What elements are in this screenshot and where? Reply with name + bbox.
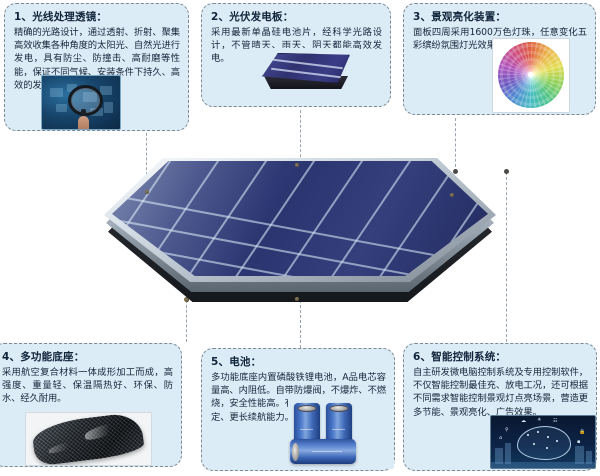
monocrystalline-solar-wafer-image	[249, 48, 359, 104]
frame-screw	[145, 190, 149, 194]
info-panel-5[interactable]: 5、电池： 多功能底座内置磷酸铁锂电池，A品电芯容量高、内阻低。自带防爆阀，不爆…	[201, 348, 395, 471]
frame-screw	[295, 163, 299, 167]
lock-icon: 🔒	[579, 430, 585, 435]
chart-icon: ▪	[577, 440, 580, 445]
frame-screw	[450, 193, 454, 197]
solar-panel-assembly	[90, 150, 510, 310]
lithium-battery-cells-image	[288, 395, 394, 469]
panel-6-body: 自主研发微电脑控制系统及专用控制软件，不仅智能控制最佳充、放电工况，还可根据不同…	[413, 366, 588, 419]
infographic-canvas: 1、光线处理透镜： 精确的光路设计，通过透射、折射、聚集高效收集各种角度的太阳光…	[0, 0, 600, 476]
wifi-icon: ☁	[521, 419, 526, 424]
frame-screw	[185, 298, 189, 302]
panel-5-title: 5、电池：	[211, 356, 386, 369]
ai-brain-icon	[517, 426, 571, 460]
smart-city-ai-network-image: ☁ ☀ ☷ ⌂ ⚲ 🔒 ▪	[490, 415, 596, 469]
panel-3-title: 3、景观亮化装置：	[413, 11, 587, 24]
info-panel-1[interactable]: 1、光线处理透镜： 精确的光路设计，通过透射、折射、聚集高效收集各种角度的太阳光…	[4, 3, 189, 131]
car-icon: ⚲	[505, 428, 509, 433]
signal-icon: ☷	[553, 419, 557, 424]
cell-grid-line	[344, 161, 485, 276]
panel-1-title: 1、光线处理透镜：	[14, 11, 180, 24]
home-icon: ⌂	[499, 436, 502, 441]
panel-4-title: 4、多功能底座：	[2, 351, 173, 364]
info-panel-3[interactable]: 3、景观亮化装置： 面板四周采用1600万色灯珠，任意变化五彩缤纷氛围灯光效果	[403, 3, 596, 115]
panel-2-title: 2、光伏发电板：	[211, 11, 382, 24]
cloud-icon: ☀	[537, 418, 541, 423]
magnifier-over-data-map-image	[41, 75, 121, 130]
frame-screw	[295, 297, 299, 301]
rgb-color-wheel-image	[492, 38, 570, 113]
panel-6-title: 6、智能控制系统：	[413, 351, 588, 364]
carbon-fiber-base-image	[25, 412, 152, 466]
info-panel-4[interactable]: 4、多功能底座： 采用航空复合材料一体成形加工而成，高强度、重量轻、保温隔热好、…	[0, 343, 182, 467]
panel-4-body: 采用航空复合材料一体成形加工而成，高强度、重量轻、保温隔热好、环保、防水、经久耐…	[2, 366, 173, 406]
info-panel-2[interactable]: 2、光伏发电板： 采用最新单晶硅电池片，经科学光路设计，不管晴天、雨天、阴天都能…	[201, 3, 391, 107]
info-panel-6[interactable]: 6、智能控制系统： 自主研发微电脑控制系统及专用控制软件，不仅智能控制最佳充、放…	[403, 343, 597, 471]
battery-cell	[290, 439, 356, 464]
